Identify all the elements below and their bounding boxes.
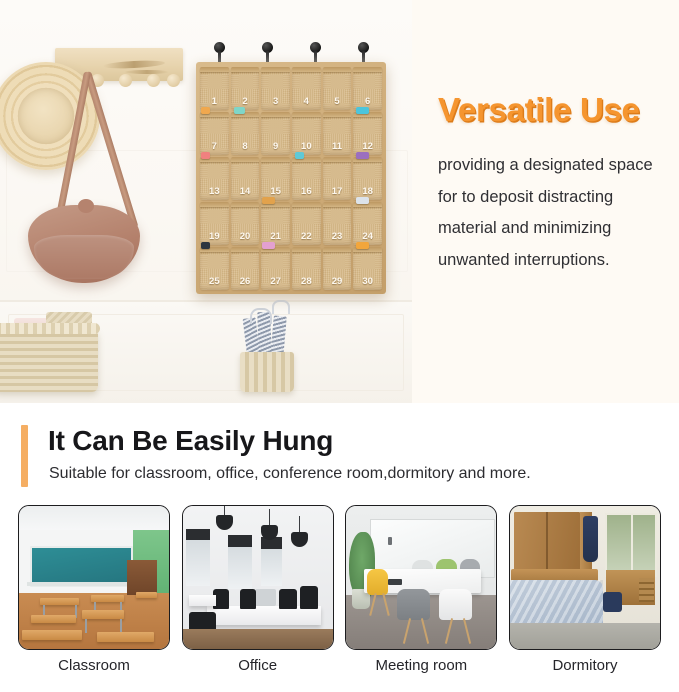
hero-section: 1234567891011121314151617181920212223242… <box>0 0 679 403</box>
pocket-contents <box>356 107 369 114</box>
pocket-number: 26 <box>240 277 251 291</box>
dormitory-photo <box>509 505 661 650</box>
pocket-number: 29 <box>332 277 343 291</box>
pocket-number: 1 <box>212 97 217 111</box>
carpet-floor <box>510 623 660 649</box>
umbrella-handle <box>250 308 272 324</box>
desk-drawers <box>639 578 654 602</box>
organizer-pocket: 14 <box>231 157 260 200</box>
organizer-pocket: 23 <box>323 202 352 245</box>
pocket-grid: 1234567891011121314151617181920212223242… <box>200 67 382 290</box>
wooden-floor <box>183 629 333 649</box>
student-desk <box>22 630 82 640</box>
pocket-number: 4 <box>304 97 309 111</box>
thumbnail-caption: Meeting room <box>345 657 497 674</box>
hero-copy: Versatile Use providing a designated spa… <box>412 0 679 403</box>
pocket-number: 16 <box>301 187 312 201</box>
hero-title: Versatile Use <box>438 91 640 129</box>
thumbnail-meeting-room: Meeting room <box>345 505 497 692</box>
pocket-contents <box>356 152 369 159</box>
organizer-pocket: 6 <box>353 67 382 110</box>
pocket-contents <box>356 242 369 249</box>
pocket-number: 9 <box>273 142 278 156</box>
pendant-lamp <box>291 532 308 547</box>
organizer-pocket: 21 <box>261 202 290 245</box>
thumbnail-classroom: Classroom <box>18 505 170 692</box>
chair-white <box>439 589 472 620</box>
pocket-number: 25 <box>209 277 220 291</box>
lifestyle-photo: 1234567891011121314151617181920212223242… <box>0 0 412 403</box>
organizer-pocket: 8 <box>231 112 260 155</box>
office-chair <box>279 589 297 609</box>
pendant-lamp <box>261 525 278 540</box>
window-shade <box>186 529 210 540</box>
pocket-number: 27 <box>270 277 281 291</box>
thumbnail-caption: Office <box>182 657 334 674</box>
organizer-pocket: 11 <box>323 112 352 155</box>
organizer-pocket: 12 <box>353 112 382 155</box>
office-photo <box>182 505 334 650</box>
accent-bar <box>21 425 28 487</box>
organizer-hooks <box>196 42 386 64</box>
student-desk <box>82 610 124 619</box>
pocket-contents <box>201 242 210 249</box>
pocket-number: 11 <box>332 142 342 156</box>
organizer-pocket: 15 <box>261 157 290 200</box>
cable-port <box>388 579 402 585</box>
organizer-pocket: 3 <box>261 67 290 110</box>
organizer-pocket: 10 <box>292 112 321 155</box>
wall-hook-icon <box>310 42 321 53</box>
hat-crown <box>18 88 74 144</box>
organizer-pocket: 7 <box>200 112 229 155</box>
monitor <box>255 589 276 606</box>
classroom-photo <box>18 505 170 650</box>
wall-hook-icon <box>262 42 273 53</box>
thumbnail-dormitory: Dormitory <box>509 505 661 692</box>
pocket-number: 14 <box>240 187 251 201</box>
organizer-pocket: 26 <box>231 247 260 290</box>
pocket-contents <box>262 242 275 249</box>
meeting-room-photo <box>345 505 497 650</box>
hanging-coat <box>583 516 598 562</box>
hero-body-text: providing a designated space for to depo… <box>438 150 663 277</box>
organizer-pocket: 24 <box>353 202 382 245</box>
thumbnail-office: Office <box>182 505 334 692</box>
organizer-pocket: 1 <box>200 67 229 110</box>
student-desk <box>31 615 76 624</box>
pocket-number: 13 <box>209 187 220 201</box>
backpack <box>603 592 623 612</box>
organizer-pocket: 22 <box>292 202 321 245</box>
desk-leg <box>85 619 87 633</box>
pocket-number: 20 <box>240 232 251 246</box>
desk-surface <box>189 595 216 606</box>
organizer-pocket: 29 <box>323 247 352 290</box>
pocket-number: 30 <box>362 277 373 291</box>
pocket-number: 17 <box>332 187 343 201</box>
chair-yellow <box>367 569 388 595</box>
organizer-pocket: 17 <box>323 157 352 200</box>
chair-grey <box>397 589 430 620</box>
teacher-cabinet <box>127 560 157 594</box>
organizer-pocket: 25 <box>200 247 229 290</box>
thumbnail-caption: Classroom <box>18 657 170 674</box>
pendant-lamp <box>216 515 233 530</box>
student-desk <box>91 595 124 602</box>
pocket-number: 8 <box>242 142 247 156</box>
office-chair <box>240 589 257 609</box>
organizer-pocket: 30 <box>353 247 382 290</box>
organizer-pocket: 13 <box>200 157 229 200</box>
pocket-number: 19 <box>209 232 220 246</box>
organizer-pocket: 5 <box>323 67 352 110</box>
usage-section: It Can Be Easily Hung Suitable for class… <box>0 403 679 692</box>
strap-knot <box>78 199 94 213</box>
pocket-number: 28 <box>301 277 312 291</box>
basket-rim <box>0 323 100 334</box>
pocket-number: 7 <box>212 142 217 156</box>
section-title: It Can Be Easily Hung <box>48 425 333 457</box>
wall-hook-icon <box>214 42 225 53</box>
rack-peg <box>119 74 132 87</box>
wall-switch <box>388 537 392 545</box>
organizer-pocket: 19 <box>200 202 229 245</box>
organizer-pocket: 27 <box>261 247 290 290</box>
wood-grain <box>125 70 169 74</box>
organizer-pocket: 16 <box>292 157 321 200</box>
office-chair <box>300 586 318 609</box>
organizer-pocket: 28 <box>292 247 321 290</box>
pocket-number: 22 <box>301 232 312 246</box>
organizer-pocket: 18 <box>353 157 382 200</box>
wall-hook-icon <box>358 42 369 53</box>
bag-flap <box>34 235 134 279</box>
pocket-contents <box>201 152 210 159</box>
chalk-tray <box>27 582 132 586</box>
ceiling <box>19 506 169 530</box>
organizer-pocket: 9 <box>261 112 290 155</box>
pocket-contents <box>295 152 304 159</box>
pocket-number: 23 <box>332 232 343 246</box>
student-desk <box>97 632 154 642</box>
pocket-contents <box>234 107 245 114</box>
pocket-contents <box>356 197 369 204</box>
rack-peg <box>147 74 160 87</box>
thumbnail-caption: Dormitory <box>509 657 661 674</box>
usage-thumbnail-row: Classroom <box>0 505 679 692</box>
pocket-number: 5 <box>334 97 339 111</box>
organizer-pocket: 2 <box>231 67 260 110</box>
numbered-pocket-organizer: 1234567891011121314151617181920212223242… <box>196 62 386 294</box>
section-subtitle: Suitable for classroom, office, conferen… <box>49 465 531 483</box>
window-shade <box>228 535 252 548</box>
woven-umbrella-basket <box>240 352 294 392</box>
side-stool <box>136 592 157 598</box>
product-marketing-image: 1234567891011121314151617181920212223242… <box>0 0 679 692</box>
organizer-pocket: 20 <box>231 202 260 245</box>
organizer-pocket: 4 <box>292 67 321 110</box>
pocket-contents <box>201 107 210 114</box>
umbrella-handle <box>272 300 290 314</box>
pocket-contents <box>262 197 275 204</box>
window <box>605 513 657 577</box>
wood-grain <box>103 59 165 69</box>
student-desk <box>40 598 79 605</box>
wicker-storage-basket <box>0 330 98 392</box>
rack-peg <box>167 74 180 87</box>
pocket-number: 3 <box>273 97 278 111</box>
